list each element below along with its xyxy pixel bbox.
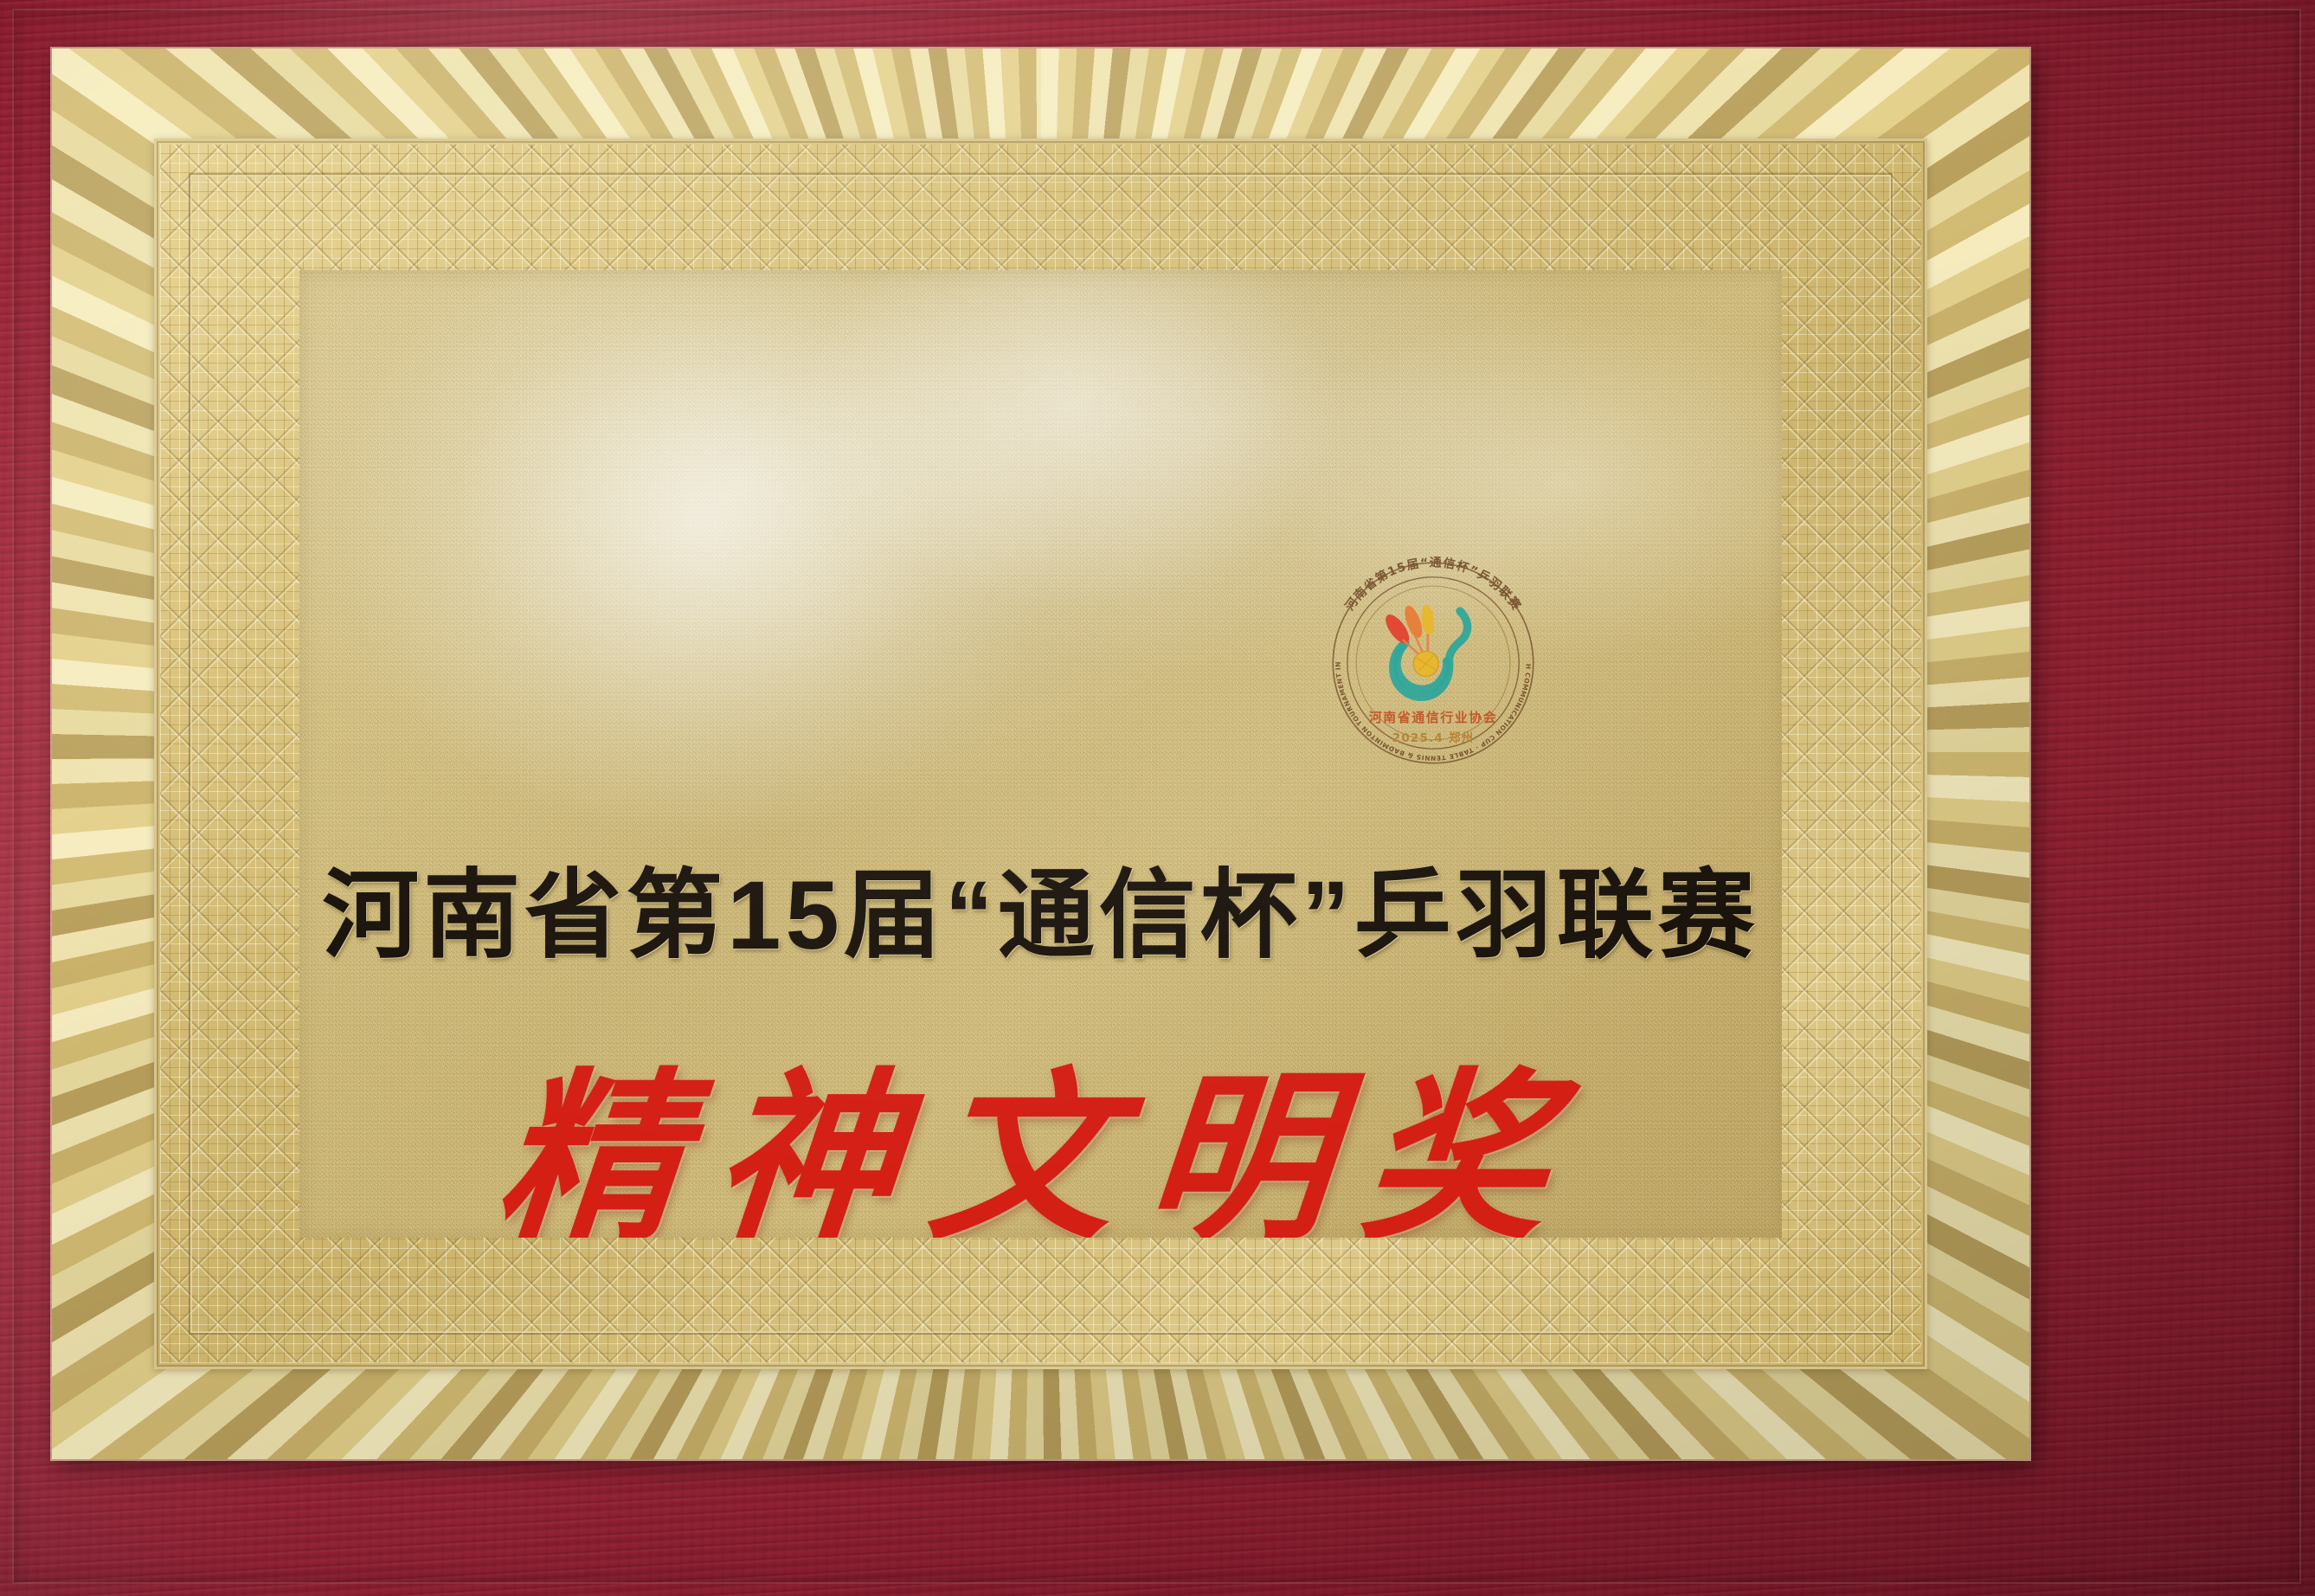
gold-plate: 河南省第15届“通信杯”乒羽联赛 THE 15TH COMMUNICATION … xyxy=(52,48,2029,1459)
plaque-title: 河南省第15届“通信杯”乒羽联赛 xyxy=(299,837,1782,977)
award-name: 精神文明奖 xyxy=(299,1010,1782,1238)
inner-gold-panel: 河南省第15届“通信杯”乒羽联赛 THE 15TH COMMUNICATION … xyxy=(299,270,1782,1238)
svg-text:2025.4 郑州: 2025.4 郑州 xyxy=(1392,730,1474,745)
award-plaque: 河南省第15届“通信杯”乒羽联赛 THE 15TH COMMUNICATION … xyxy=(0,0,2315,1596)
ornamental-border: 河南省第15届“通信杯”乒羽联赛 THE 15TH COMMUNICATION … xyxy=(154,138,1927,1369)
tournament-emblem-icon: 河南省第15届“通信杯”乒羽联赛 THE 15TH COMMUNICATION … xyxy=(1326,556,1540,770)
svg-text:河南省通信行业协会: 河南省通信行业协会 xyxy=(1369,710,1498,725)
